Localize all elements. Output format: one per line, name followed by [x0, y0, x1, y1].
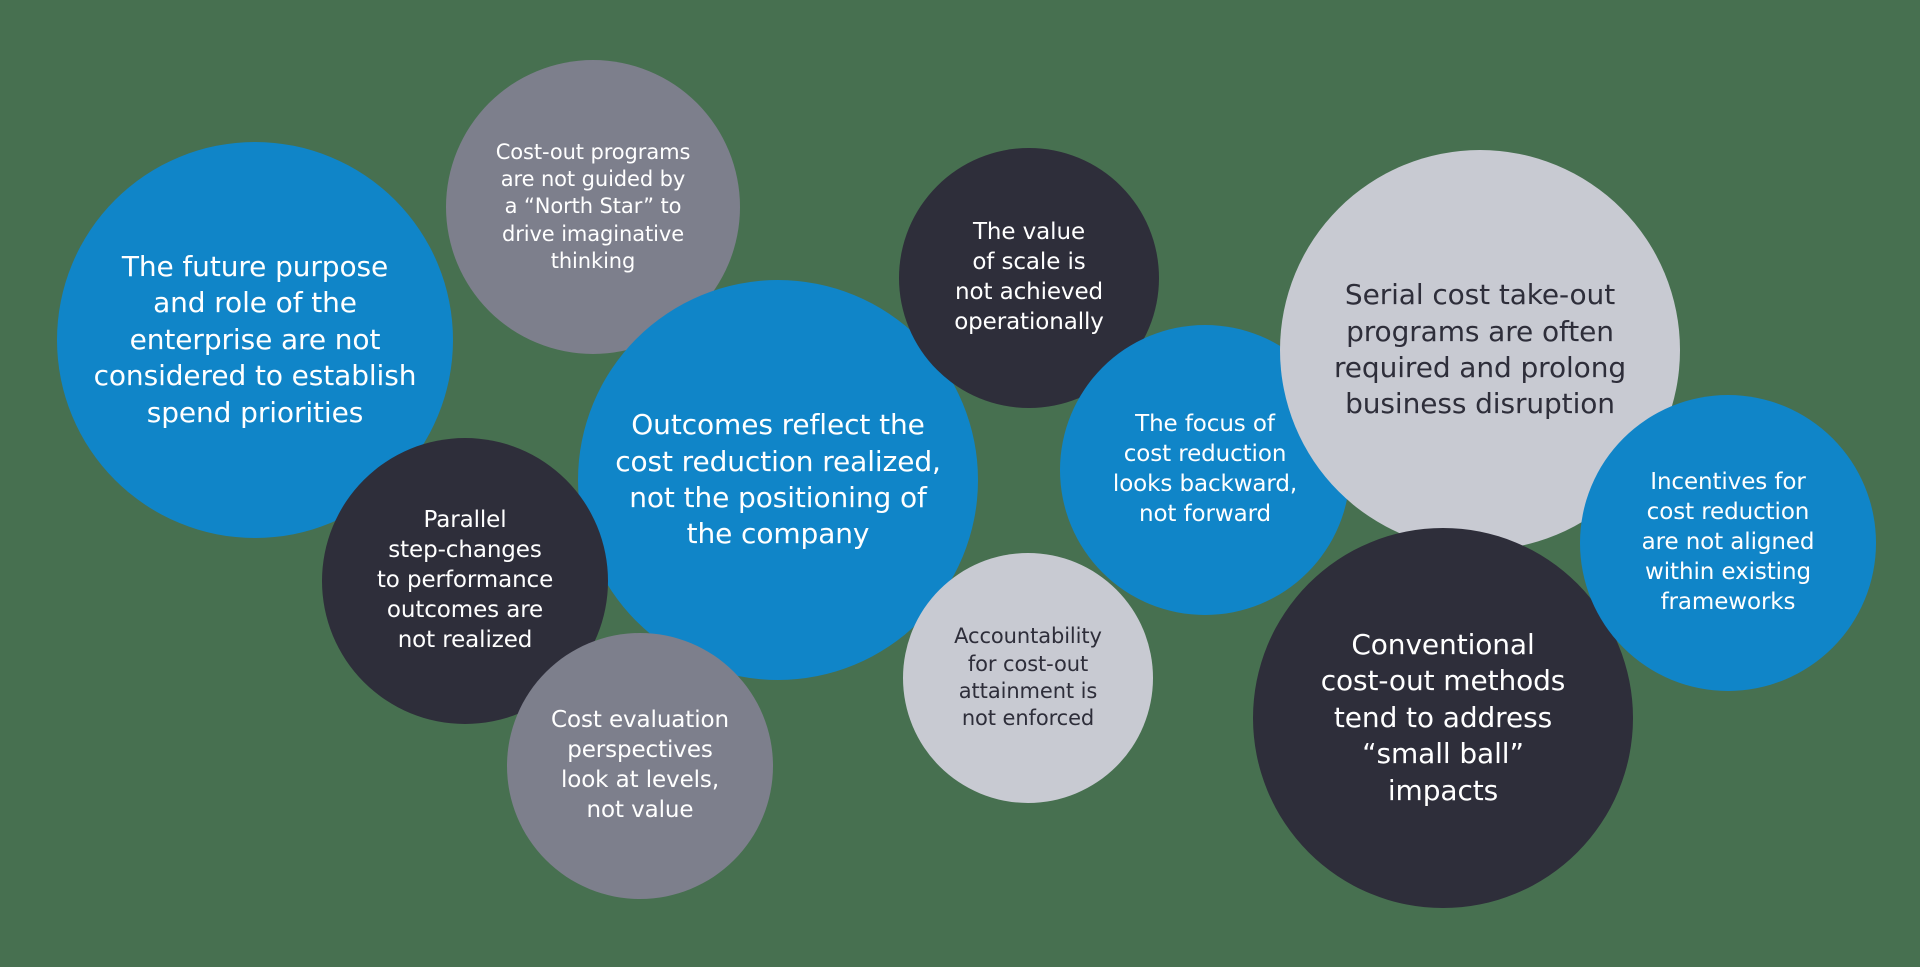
bubble-label: Conventional cost-out methods tend to ad…	[1315, 627, 1572, 809]
bubble-incentives-for-cost-reduction: Incentives for cost reduction are not al…	[1580, 395, 1876, 691]
bubble-diagram-canvas: The future purpose and role of the enter…	[0, 0, 1920, 967]
bubble-cost-evaluation-perspectives: Cost evaluation perspectives look at lev…	[507, 633, 773, 899]
bubble-label: The focus of cost reduction looks backwa…	[1107, 410, 1303, 530]
bubble-label: Serial cost take-out programs are often …	[1328, 277, 1632, 423]
bubble-label: Parallel step-changes to performance out…	[371, 506, 559, 655]
bubble-label: Incentives for cost reduction are not al…	[1636, 468, 1821, 617]
bubble-label: The value of scale is not achieved opera…	[948, 218, 1110, 338]
bubble-label: Outcomes reflect the cost reduction real…	[609, 407, 947, 553]
bubble-label: Cost evaluation perspectives look at lev…	[545, 706, 735, 826]
bubble-accountability-cost-out: Accountability for cost-out attainment i…	[903, 553, 1153, 803]
bubble-label: The future purpose and role of the enter…	[88, 249, 423, 431]
bubble-label: Cost-out programs are not guided by a “N…	[490, 139, 697, 275]
bubble-label: Accountability for cost-out attainment i…	[948, 623, 1108, 732]
bubble-conventional-cost-out-methods: Conventional cost-out methods tend to ad…	[1253, 528, 1633, 908]
